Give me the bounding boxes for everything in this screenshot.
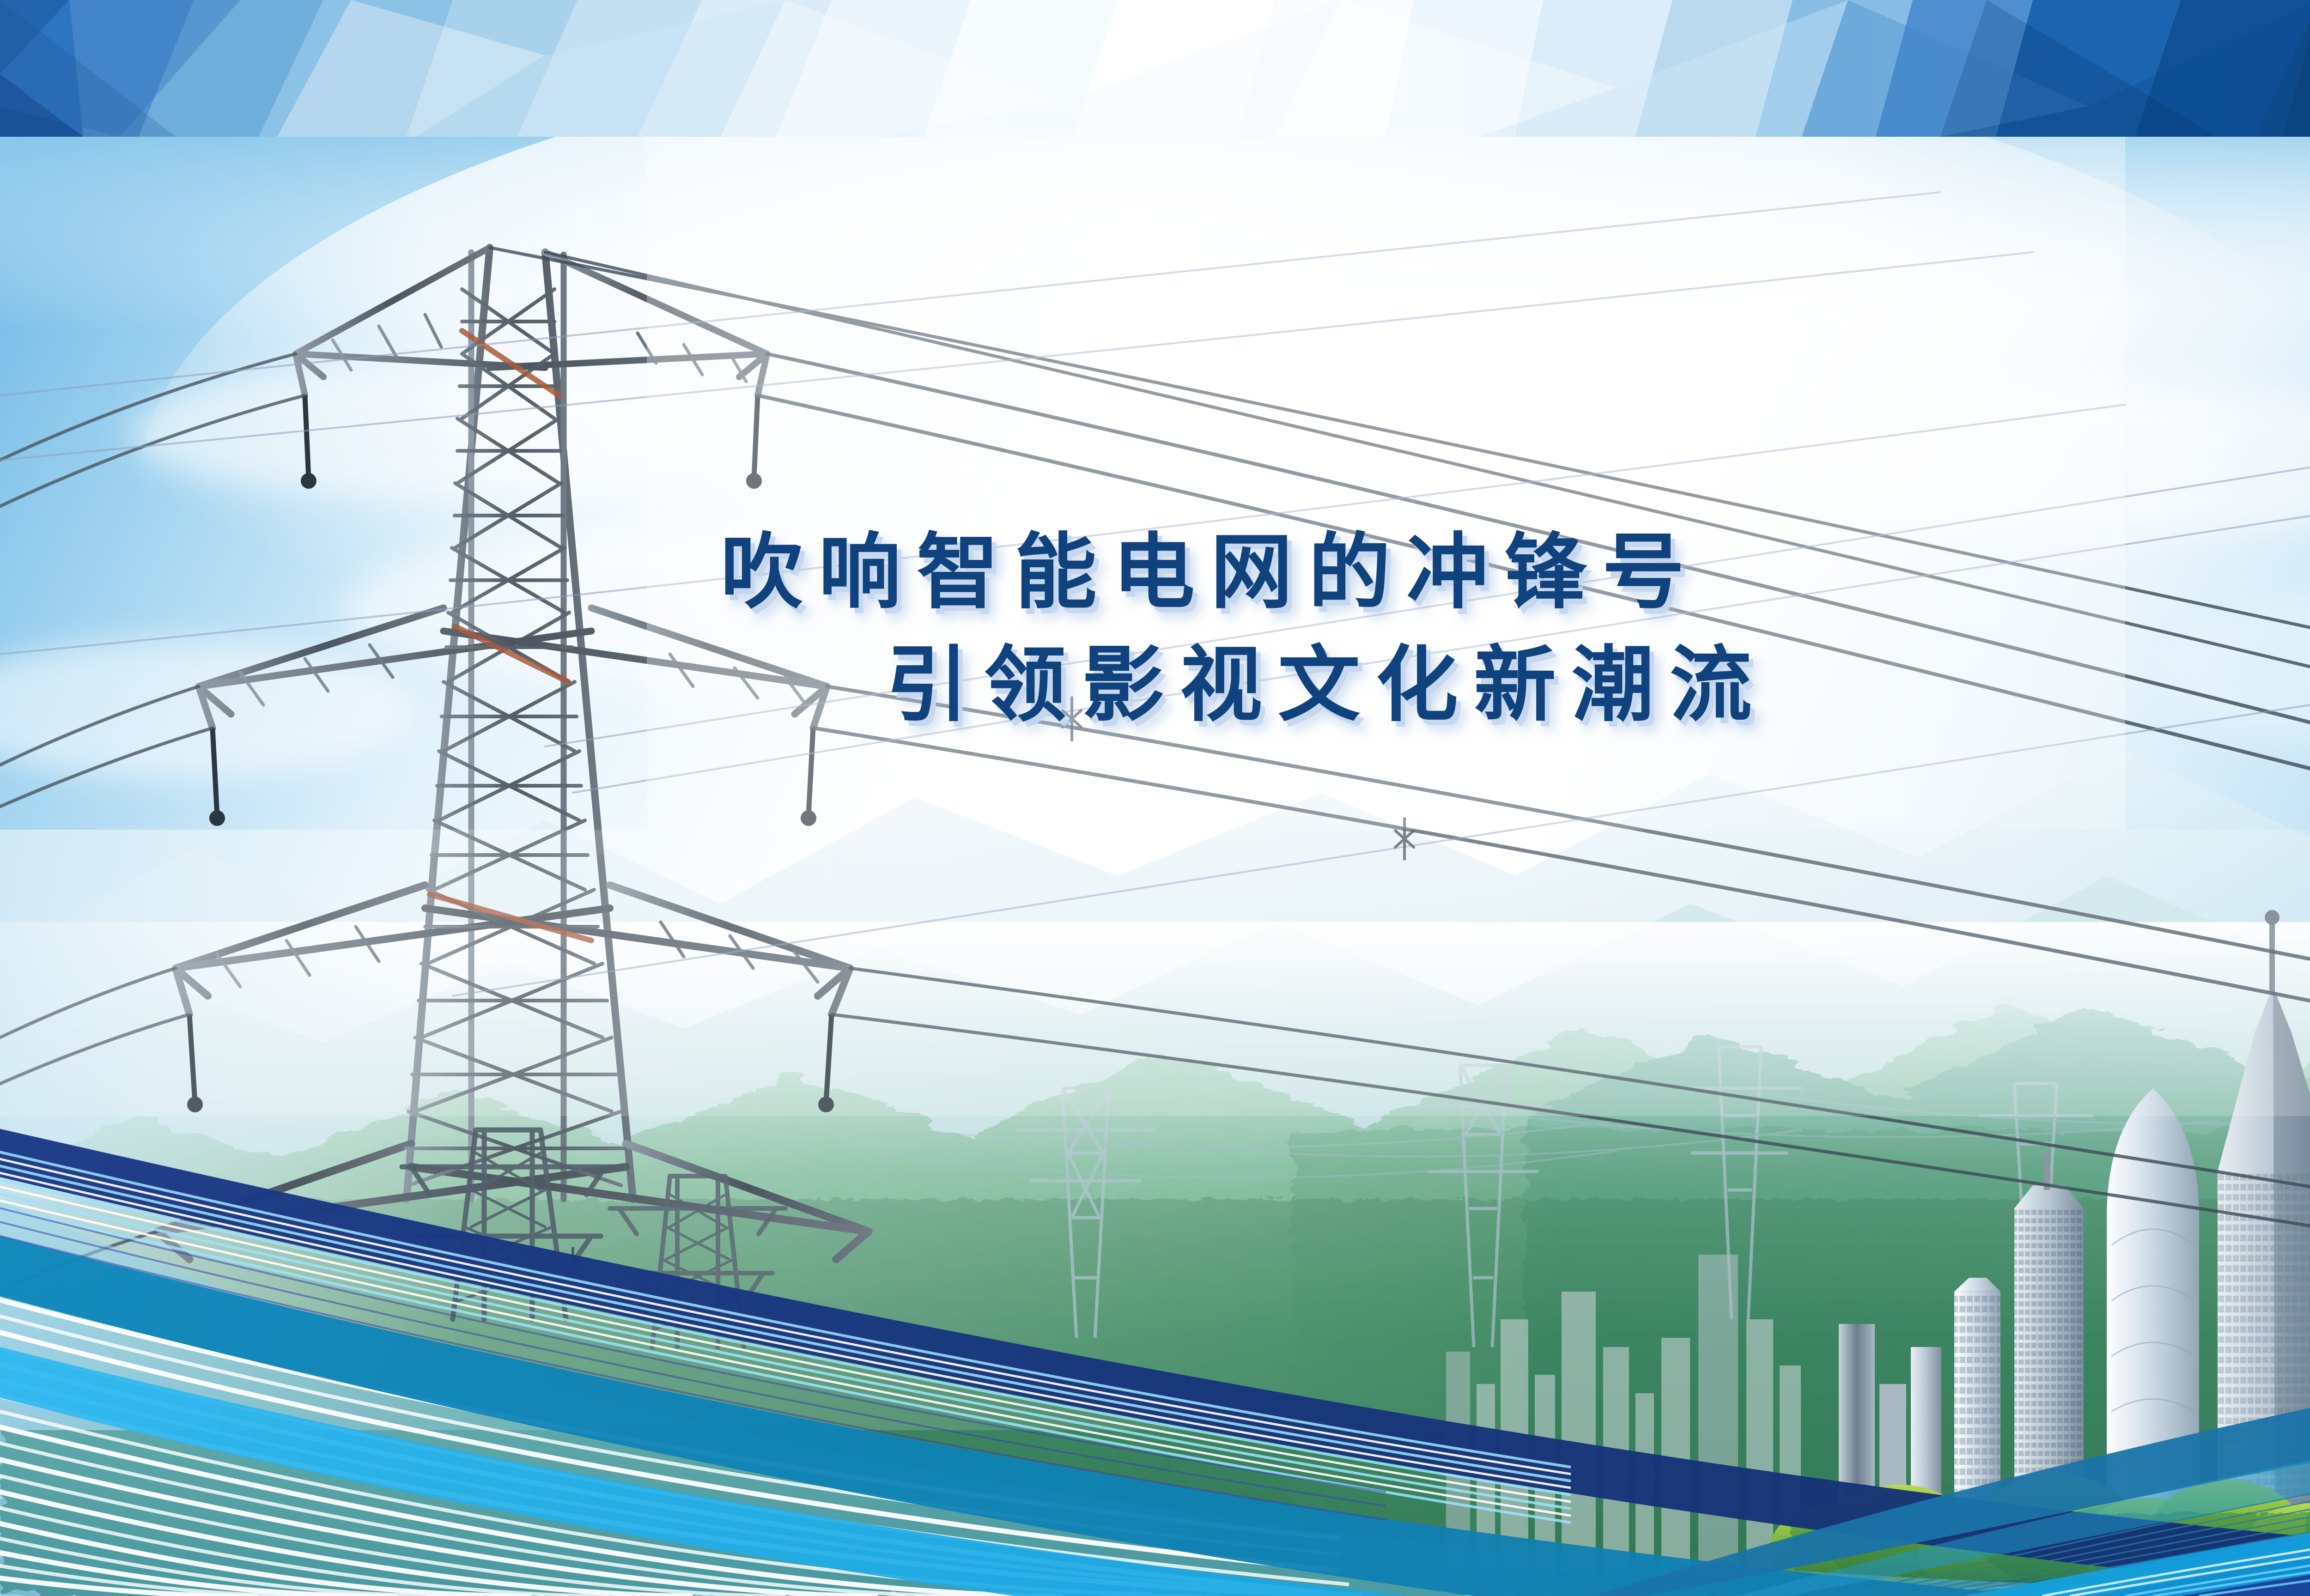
bottom-wave-ribbons — [0, 0, 2310, 1596]
banner-root: 吹响智能电网的冲锋号 引领影视文化新潮流 — [0, 0, 2310, 1596]
